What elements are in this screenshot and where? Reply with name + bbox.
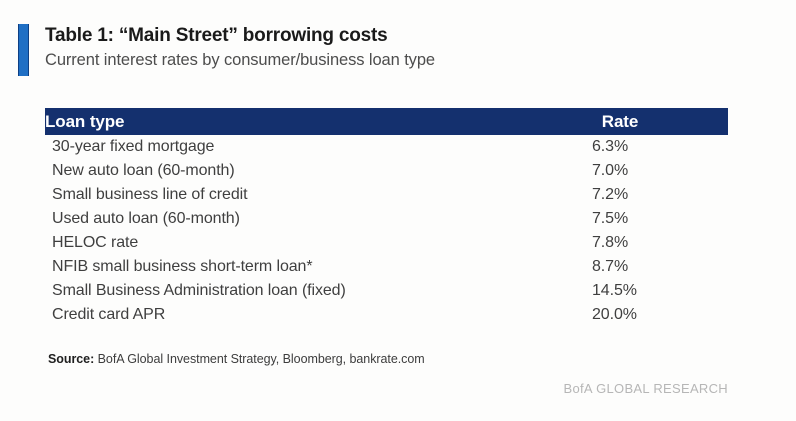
- table-row: 30-year fixed mortgage 6.3%: [45, 135, 728, 159]
- cell-rate: 7.8%: [590, 231, 728, 255]
- source-label: Source:: [48, 352, 94, 366]
- cell-rate: 7.2%: [590, 183, 728, 207]
- source-note: Source: BofA Global Investment Strategy,…: [48, 352, 425, 366]
- exhibit-container: Table 1: “Main Street” borrowing costs C…: [0, 0, 796, 421]
- cell-rate: 7.0%: [590, 159, 728, 183]
- cell-loan-type: Small Business Administration loan (fixe…: [45, 279, 590, 303]
- title-text-group: Table 1: “Main Street” borrowing costs C…: [45, 24, 738, 76]
- cell-loan-type: New auto loan (60-month): [45, 159, 590, 183]
- table-row: Used auto loan (60-month) 7.5%: [45, 207, 728, 231]
- table-row: New auto loan (60-month) 7.0%: [45, 159, 728, 183]
- cell-loan-type: NFIB small business short-term loan*: [45, 255, 590, 279]
- cell-rate: 14.5%: [590, 279, 728, 303]
- cell-loan-type: Credit card APR: [45, 303, 590, 327]
- column-header-rate: Rate: [590, 108, 728, 135]
- table-row: Credit card APR 20.0%: [45, 303, 728, 327]
- cell-rate: 8.7%: [590, 255, 728, 279]
- column-header-loan-type: Loan type: [45, 108, 590, 135]
- cell-loan-type: 30-year fixed mortgage: [45, 135, 590, 159]
- cell-rate: 20.0%: [590, 303, 728, 327]
- table-row: Small Business Administration loan (fixe…: [45, 279, 728, 303]
- footer-watermark: BofA GLOBAL RESEARCH: [564, 381, 728, 396]
- cell-loan-type: Small business line of credit: [45, 183, 590, 207]
- cell-loan-type: HELOC rate: [45, 231, 590, 255]
- page-subtitle: Current interest rates by consumer/busin…: [45, 51, 738, 71]
- accent-bar: [18, 24, 29, 76]
- table-row: HELOC rate 7.8%: [45, 231, 728, 255]
- table-row: NFIB small business short-term loan* 8.7…: [45, 255, 728, 279]
- cell-rate: 6.3%: [590, 135, 728, 159]
- page-title: Table 1: “Main Street” borrowing costs: [45, 25, 738, 47]
- borrowing-costs-table: Loan type Rate 30-year fixed mortgage 6.…: [45, 108, 728, 327]
- source-text: BofA Global Investment Strategy, Bloombe…: [94, 352, 424, 366]
- title-block: Table 1: “Main Street” borrowing costs C…: [18, 24, 738, 76]
- table-body: 30-year fixed mortgage 6.3% New auto loa…: [45, 135, 728, 327]
- table-row: Small business line of credit 7.2%: [45, 183, 728, 207]
- table-header-row: Loan type Rate: [45, 108, 728, 135]
- cell-rate: 7.5%: [590, 207, 728, 231]
- cell-loan-type: Used auto loan (60-month): [45, 207, 590, 231]
- table-header: Loan type Rate: [45, 108, 728, 135]
